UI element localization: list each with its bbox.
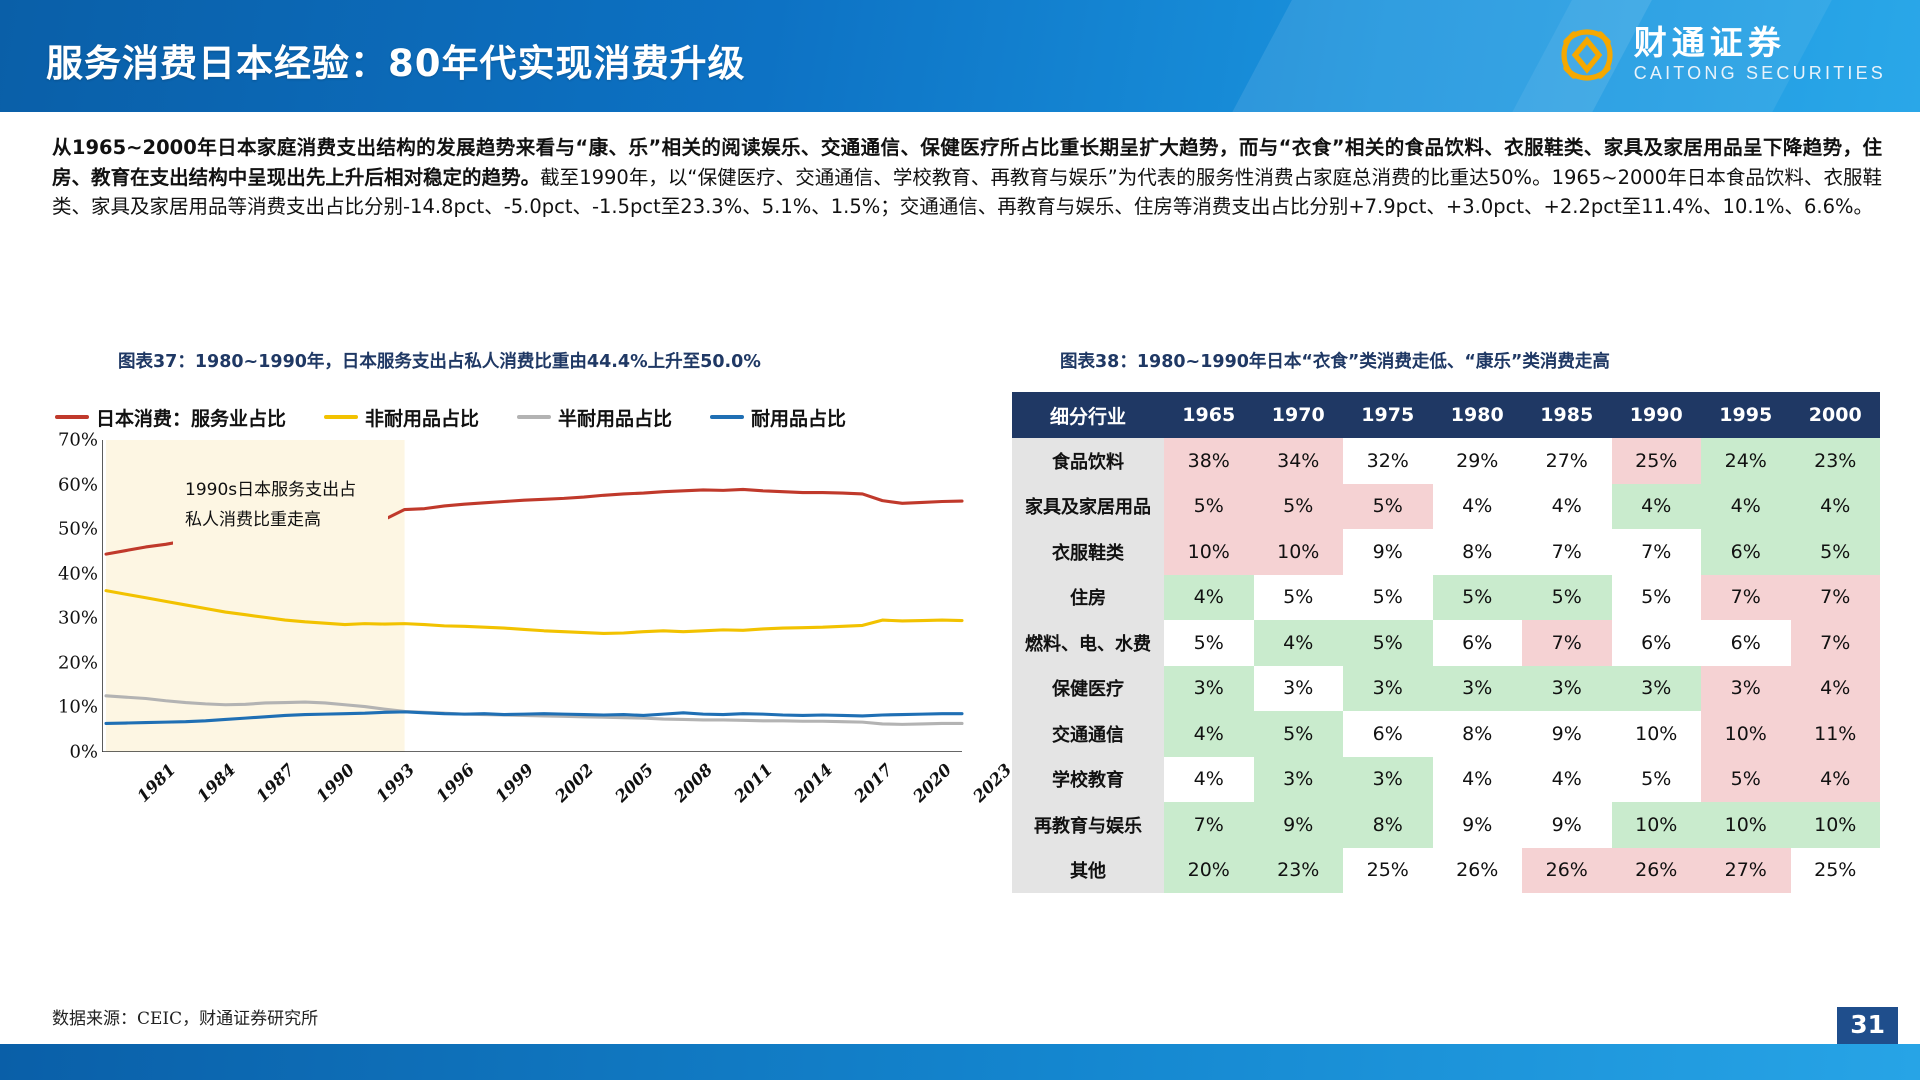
x-tick-label: 2023	[970, 760, 1016, 806]
table-cell: 5%	[1791, 529, 1881, 575]
table-cell: 34%	[1254, 438, 1344, 484]
table-cell: 5%	[1254, 575, 1344, 621]
chart-caption-left: 图表37：1980~1990年，日本服务支出占私人消费比重由44.4%上升至50…	[118, 348, 761, 373]
x-tick-label: 2011	[731, 760, 777, 806]
summary-paragraph: 从1965~2000年日本家庭消费支出结构的发展趋势来看与“康、乐”相关的阅读娱…	[52, 133, 1882, 222]
source-note: 数据来源：CEIC，财通证券研究所	[52, 1004, 318, 1029]
table-col-header-8: 2000	[1791, 392, 1881, 438]
x-tick-label: 1996	[432, 760, 478, 806]
legend-swatch-icon	[710, 415, 744, 419]
legend-label: 耐用品占比	[751, 404, 846, 431]
table-cell: 32%	[1343, 438, 1433, 484]
legend-item-3: 耐用品占比	[710, 404, 846, 431]
legend-label: 日本消费：服务业占比	[96, 404, 286, 431]
table-cell: 4%	[1164, 575, 1254, 621]
legend-swatch-icon	[517, 415, 551, 419]
table-cell: 4%	[1791, 484, 1881, 530]
x-tick-label: 1984	[193, 760, 239, 806]
table-cell: 25%	[1343, 848, 1433, 894]
table-cell: 11%	[1791, 711, 1881, 757]
table-cell: 3%	[1343, 757, 1433, 803]
table-header-row: 细分行业19651970197519801985199019952000	[1012, 392, 1880, 438]
table-cell: 5%	[1612, 757, 1702, 803]
table-row: 交通通信4%5%6%8%9%10%10%11%	[1012, 711, 1880, 757]
table-cell: 4%	[1254, 620, 1344, 666]
table-cell: 10%	[1701, 802, 1791, 848]
table-cell: 5%	[1343, 575, 1433, 621]
table-cell: 27%	[1701, 848, 1791, 894]
legend-swatch-icon	[55, 415, 89, 419]
table-cell: 4%	[1433, 757, 1523, 803]
table-cell: 4%	[1791, 666, 1881, 712]
table-col-header-3: 1975	[1343, 392, 1433, 438]
table-row-label: 保健医疗	[1012, 666, 1164, 712]
table-cell: 6%	[1433, 620, 1523, 666]
table-cell: 3%	[1522, 666, 1612, 712]
table-cell: 26%	[1433, 848, 1523, 894]
table-cell: 3%	[1433, 666, 1523, 712]
table-cell: 27%	[1522, 438, 1612, 484]
table-row: 衣服鞋类10%10%9%8%7%7%6%5%	[1012, 529, 1880, 575]
table-col-header-7: 1995	[1701, 392, 1791, 438]
table-row-label: 再教育与娱乐	[1012, 802, 1164, 848]
table-cell: 9%	[1522, 711, 1612, 757]
table-cell: 6%	[1701, 529, 1791, 575]
legend-item-1: 非耐用品占比	[324, 404, 479, 431]
x-axis-labels: 1981198419871990199319961999200220052008…	[40, 760, 980, 830]
x-tick-label: 2002	[551, 760, 597, 806]
table-cell: 10%	[1612, 711, 1702, 757]
table-cell: 3%	[1701, 666, 1791, 712]
table-cell: 10%	[1254, 529, 1344, 575]
table-row: 再教育与娱乐7%9%8%9%9%10%10%10%	[1012, 802, 1880, 848]
legend-item-0: 日本消费：服务业占比	[55, 404, 286, 431]
table-cell: 4%	[1791, 757, 1881, 803]
table-cell: 25%	[1791, 848, 1881, 894]
page-title: 服务消费日本经验：80年代实现消费升级	[46, 33, 746, 87]
table-cell: 4%	[1612, 484, 1702, 530]
table-cell: 9%	[1433, 802, 1523, 848]
table-cell: 29%	[1433, 438, 1523, 484]
table-cell: 25%	[1612, 438, 1702, 484]
table-cell: 5%	[1612, 575, 1702, 621]
table-cell: 8%	[1433, 711, 1523, 757]
table-cell: 10%	[1164, 529, 1254, 575]
table-cell: 8%	[1433, 529, 1523, 575]
table-row: 家具及家居用品5%5%5%4%4%4%4%4%	[1012, 484, 1880, 530]
x-tick-label: 1990	[313, 760, 359, 806]
table-cell: 6%	[1343, 711, 1433, 757]
table-body: 食品饮料38%34%32%29%27%25%24%23%家具及家居用品5%5%5…	[1012, 438, 1880, 893]
table-cell: 5%	[1254, 484, 1344, 530]
x-tick-label: 2005	[611, 760, 657, 806]
table-cell: 26%	[1522, 848, 1612, 894]
table-col-header-2: 1970	[1254, 392, 1344, 438]
table-cell: 4%	[1522, 757, 1612, 803]
table-col-header-0: 细分行业	[1012, 392, 1164, 438]
table-cell: 5%	[1164, 620, 1254, 666]
table-cell: 24%	[1701, 438, 1791, 484]
table-row: 食品饮料38%34%32%29%27%25%24%23%	[1012, 438, 1880, 484]
table-cell: 5%	[1343, 620, 1433, 666]
table-cell: 9%	[1254, 802, 1344, 848]
table-row-label: 燃料、电、水费	[1012, 620, 1164, 666]
table-cell: 3%	[1343, 666, 1433, 712]
consumption-share-table: 细分行业19651970197519801985199019952000 食品饮…	[1012, 392, 1880, 893]
x-tick-label: 2008	[671, 760, 717, 806]
page-header: 服务消费日本经验：80年代实现消费升级 财通证券 CAITONG SECURIT…	[0, 0, 1920, 112]
table-col-header-5: 1985	[1522, 392, 1612, 438]
table-cell: 38%	[1164, 438, 1254, 484]
table-cell: 3%	[1612, 666, 1702, 712]
x-tick-label: 2020	[910, 760, 956, 806]
table-row: 其他20%23%25%26%26%26%27%25%	[1012, 848, 1880, 894]
table-cell: 7%	[1791, 620, 1881, 666]
table-cell: 7%	[1522, 620, 1612, 666]
table-cell: 6%	[1701, 620, 1791, 666]
table-cell: 5%	[1254, 711, 1344, 757]
y-tick-label: 30%	[58, 608, 98, 629]
chart-legend: 日本消费：服务业占比非耐用品占比半耐用品占比耐用品占比	[55, 400, 975, 434]
legend-item-2: 半耐用品占比	[517, 404, 672, 431]
chart-caption-right: 图表38：1980~1990年日本“衣食”类消费走低、“康乐”类消费走高	[1060, 348, 1610, 373]
table-cell: 7%	[1791, 575, 1881, 621]
footer-bar	[0, 1044, 1920, 1080]
x-tick-label: 2017	[850, 760, 896, 806]
table-cell: 4%	[1164, 757, 1254, 803]
table-cell: 23%	[1791, 438, 1881, 484]
table-cell: 4%	[1522, 484, 1612, 530]
caitong-emblem-icon	[1554, 22, 1620, 88]
table-col-header-4: 1980	[1433, 392, 1523, 438]
y-axis-labels: 0%10%20%30%40%50%60%70%	[40, 440, 102, 752]
page-number: 31	[1837, 1007, 1898, 1044]
table-row-label: 食品饮料	[1012, 438, 1164, 484]
table-row-label: 衣服鞋类	[1012, 529, 1164, 575]
line-chart-figure-37: 日本消费：服务业占比非耐用品占比半耐用品占比耐用品占比 0%10%20%30%4…	[40, 400, 980, 820]
table-col-header-1: 1965	[1164, 392, 1254, 438]
legend-label: 半耐用品占比	[558, 404, 672, 431]
legend-swatch-icon	[324, 415, 358, 419]
table-cell: 5%	[1522, 575, 1612, 621]
table-cell: 7%	[1612, 529, 1702, 575]
table-cell: 26%	[1612, 848, 1702, 894]
table-cell: 10%	[1612, 802, 1702, 848]
chart-plot-area: 0%10%20%30%40%50%60%70% 1990s日本服务支出占 私人消…	[40, 440, 980, 785]
table-row: 燃料、电、水费5%4%5%6%7%6%6%7%	[1012, 620, 1880, 666]
table-cell: 9%	[1522, 802, 1612, 848]
y-tick-label: 10%	[58, 697, 98, 718]
logo-chinese-name: 财通证券	[1634, 26, 1786, 61]
table-cell: 10%	[1791, 802, 1881, 848]
table-cell: 9%	[1343, 529, 1433, 575]
y-tick-label: 70%	[58, 430, 98, 451]
table-cell: 5%	[1433, 575, 1523, 621]
table-cell: 23%	[1254, 848, 1344, 894]
x-tick-label: 1993	[372, 760, 418, 806]
table-cell: 5%	[1164, 484, 1254, 530]
table-cell: 3%	[1254, 757, 1344, 803]
table-cell: 7%	[1522, 529, 1612, 575]
table-cell: 8%	[1343, 802, 1433, 848]
x-tick-label: 2014	[790, 760, 836, 806]
table-cell: 10%	[1701, 711, 1791, 757]
logo-english-name: CAITONG SECURITIES	[1634, 63, 1886, 84]
legend-label: 非耐用品占比	[365, 404, 479, 431]
table-row-label: 家具及家居用品	[1012, 484, 1164, 530]
y-tick-label: 60%	[58, 474, 98, 495]
table-cell: 7%	[1701, 575, 1791, 621]
table-row-label: 住房	[1012, 575, 1164, 621]
table-row-label: 其他	[1012, 848, 1164, 894]
table-cell: 4%	[1164, 711, 1254, 757]
x-tick-label: 1981	[133, 760, 179, 806]
brand-logo: 财通证券 CAITONG SECURITIES	[1554, 22, 1886, 88]
table-cell: 5%	[1343, 484, 1433, 530]
table-cell: 5%	[1701, 757, 1791, 803]
table-row-label: 学校教育	[1012, 757, 1164, 803]
x-tick-label: 1987	[253, 760, 299, 806]
x-tick-label: 1999	[492, 760, 538, 806]
y-tick-label: 20%	[58, 652, 98, 673]
table-cell: 4%	[1701, 484, 1791, 530]
table-cell: 4%	[1433, 484, 1523, 530]
y-tick-label: 40%	[58, 563, 98, 584]
table-row: 保健医疗3%3%3%3%3%3%3%4%	[1012, 666, 1880, 712]
table-row: 住房4%5%5%5%5%5%7%7%	[1012, 575, 1880, 621]
table-cell: 3%	[1254, 666, 1344, 712]
y-tick-label: 50%	[58, 519, 98, 540]
table-cell: 20%	[1164, 848, 1254, 894]
data-table-figure-38: 细分行业19651970197519801985199019952000 食品饮…	[1012, 392, 1880, 893]
table-row: 学校教育4%3%3%4%4%5%5%4%	[1012, 757, 1880, 803]
table-row-label: 交通通信	[1012, 711, 1164, 757]
chart-svg	[102, 440, 982, 752]
table-col-header-6: 1990	[1612, 392, 1702, 438]
table-cell: 7%	[1164, 802, 1254, 848]
table-cell: 3%	[1164, 666, 1254, 712]
table-cell: 6%	[1612, 620, 1702, 666]
